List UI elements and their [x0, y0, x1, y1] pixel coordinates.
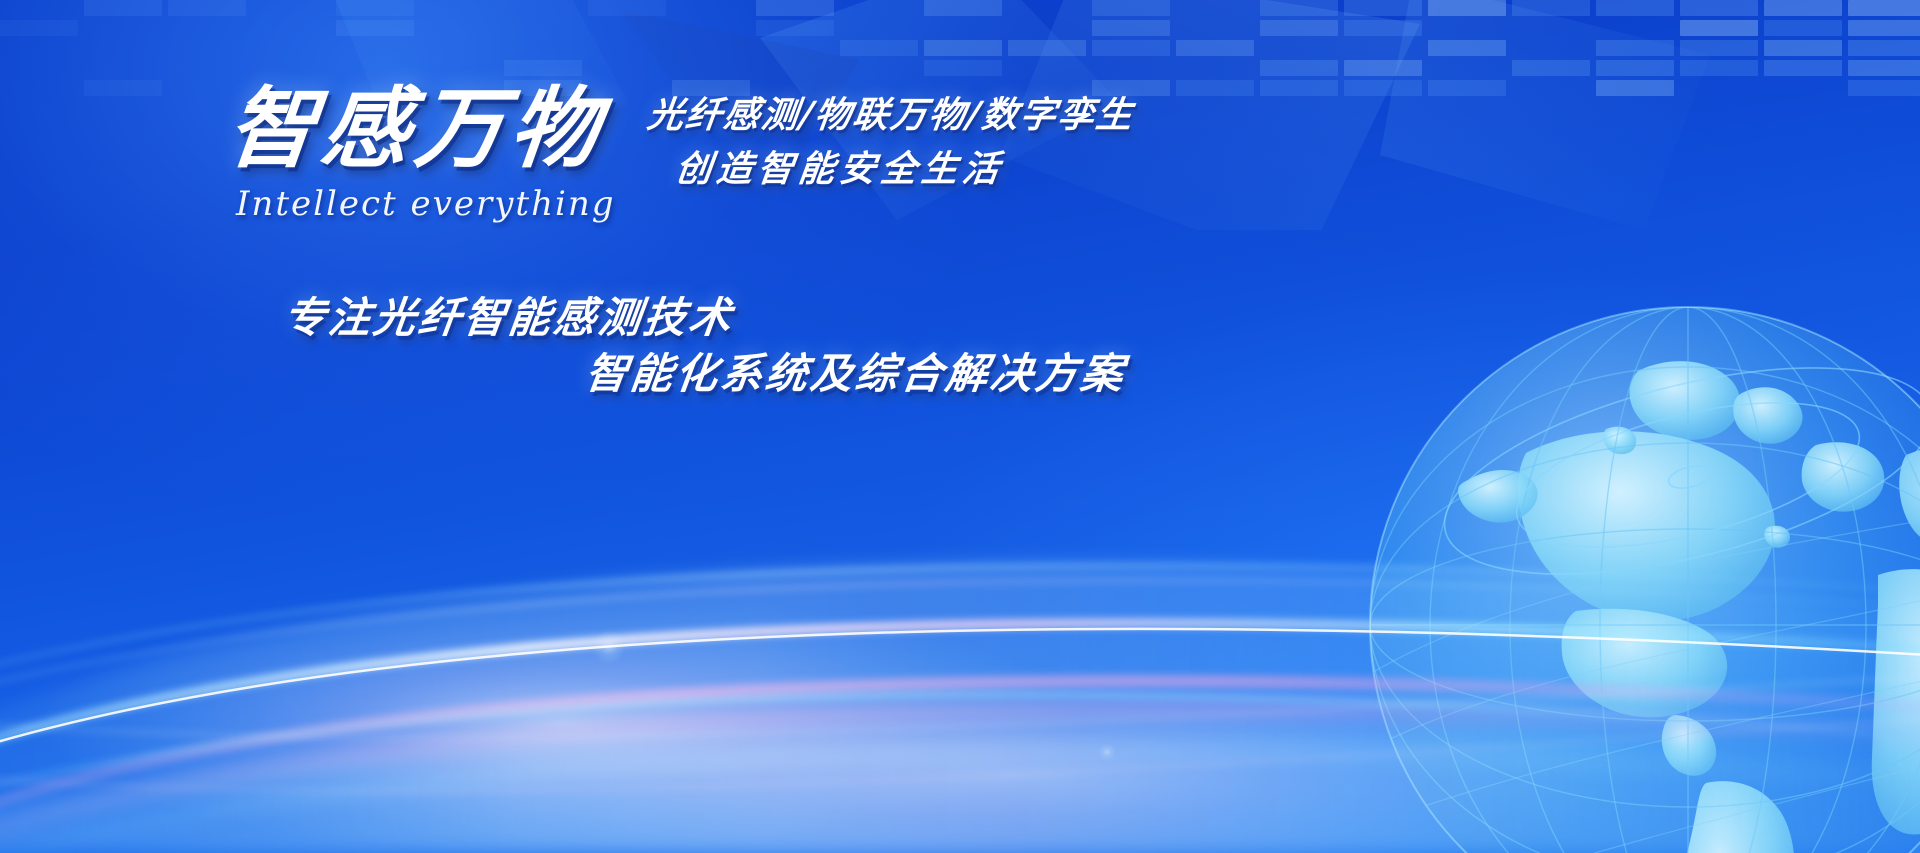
tagline-line-2: 创造智能安全生活 [673, 140, 1007, 192]
subline-2: 智能化系统及综合解决方案 [582, 340, 1130, 401]
banner-stage: 智感万物 Intellect everything 光纤感测/物联万物/数字孪生… [0, 0, 1920, 853]
subline-1: 专注光纤智能感测技术 [280, 284, 738, 345]
headline-chinese: 智感万物 [223, 84, 608, 172]
banner-text-block: 智感万物 Intellect everything 光纤感测/物联万物/数字孪生… [0, 0, 1920, 853]
headline-english: Intellect everything [236, 184, 616, 224]
tagline-line-1: 光纤感测/物联万物/数字孪生 [645, 86, 1138, 138]
